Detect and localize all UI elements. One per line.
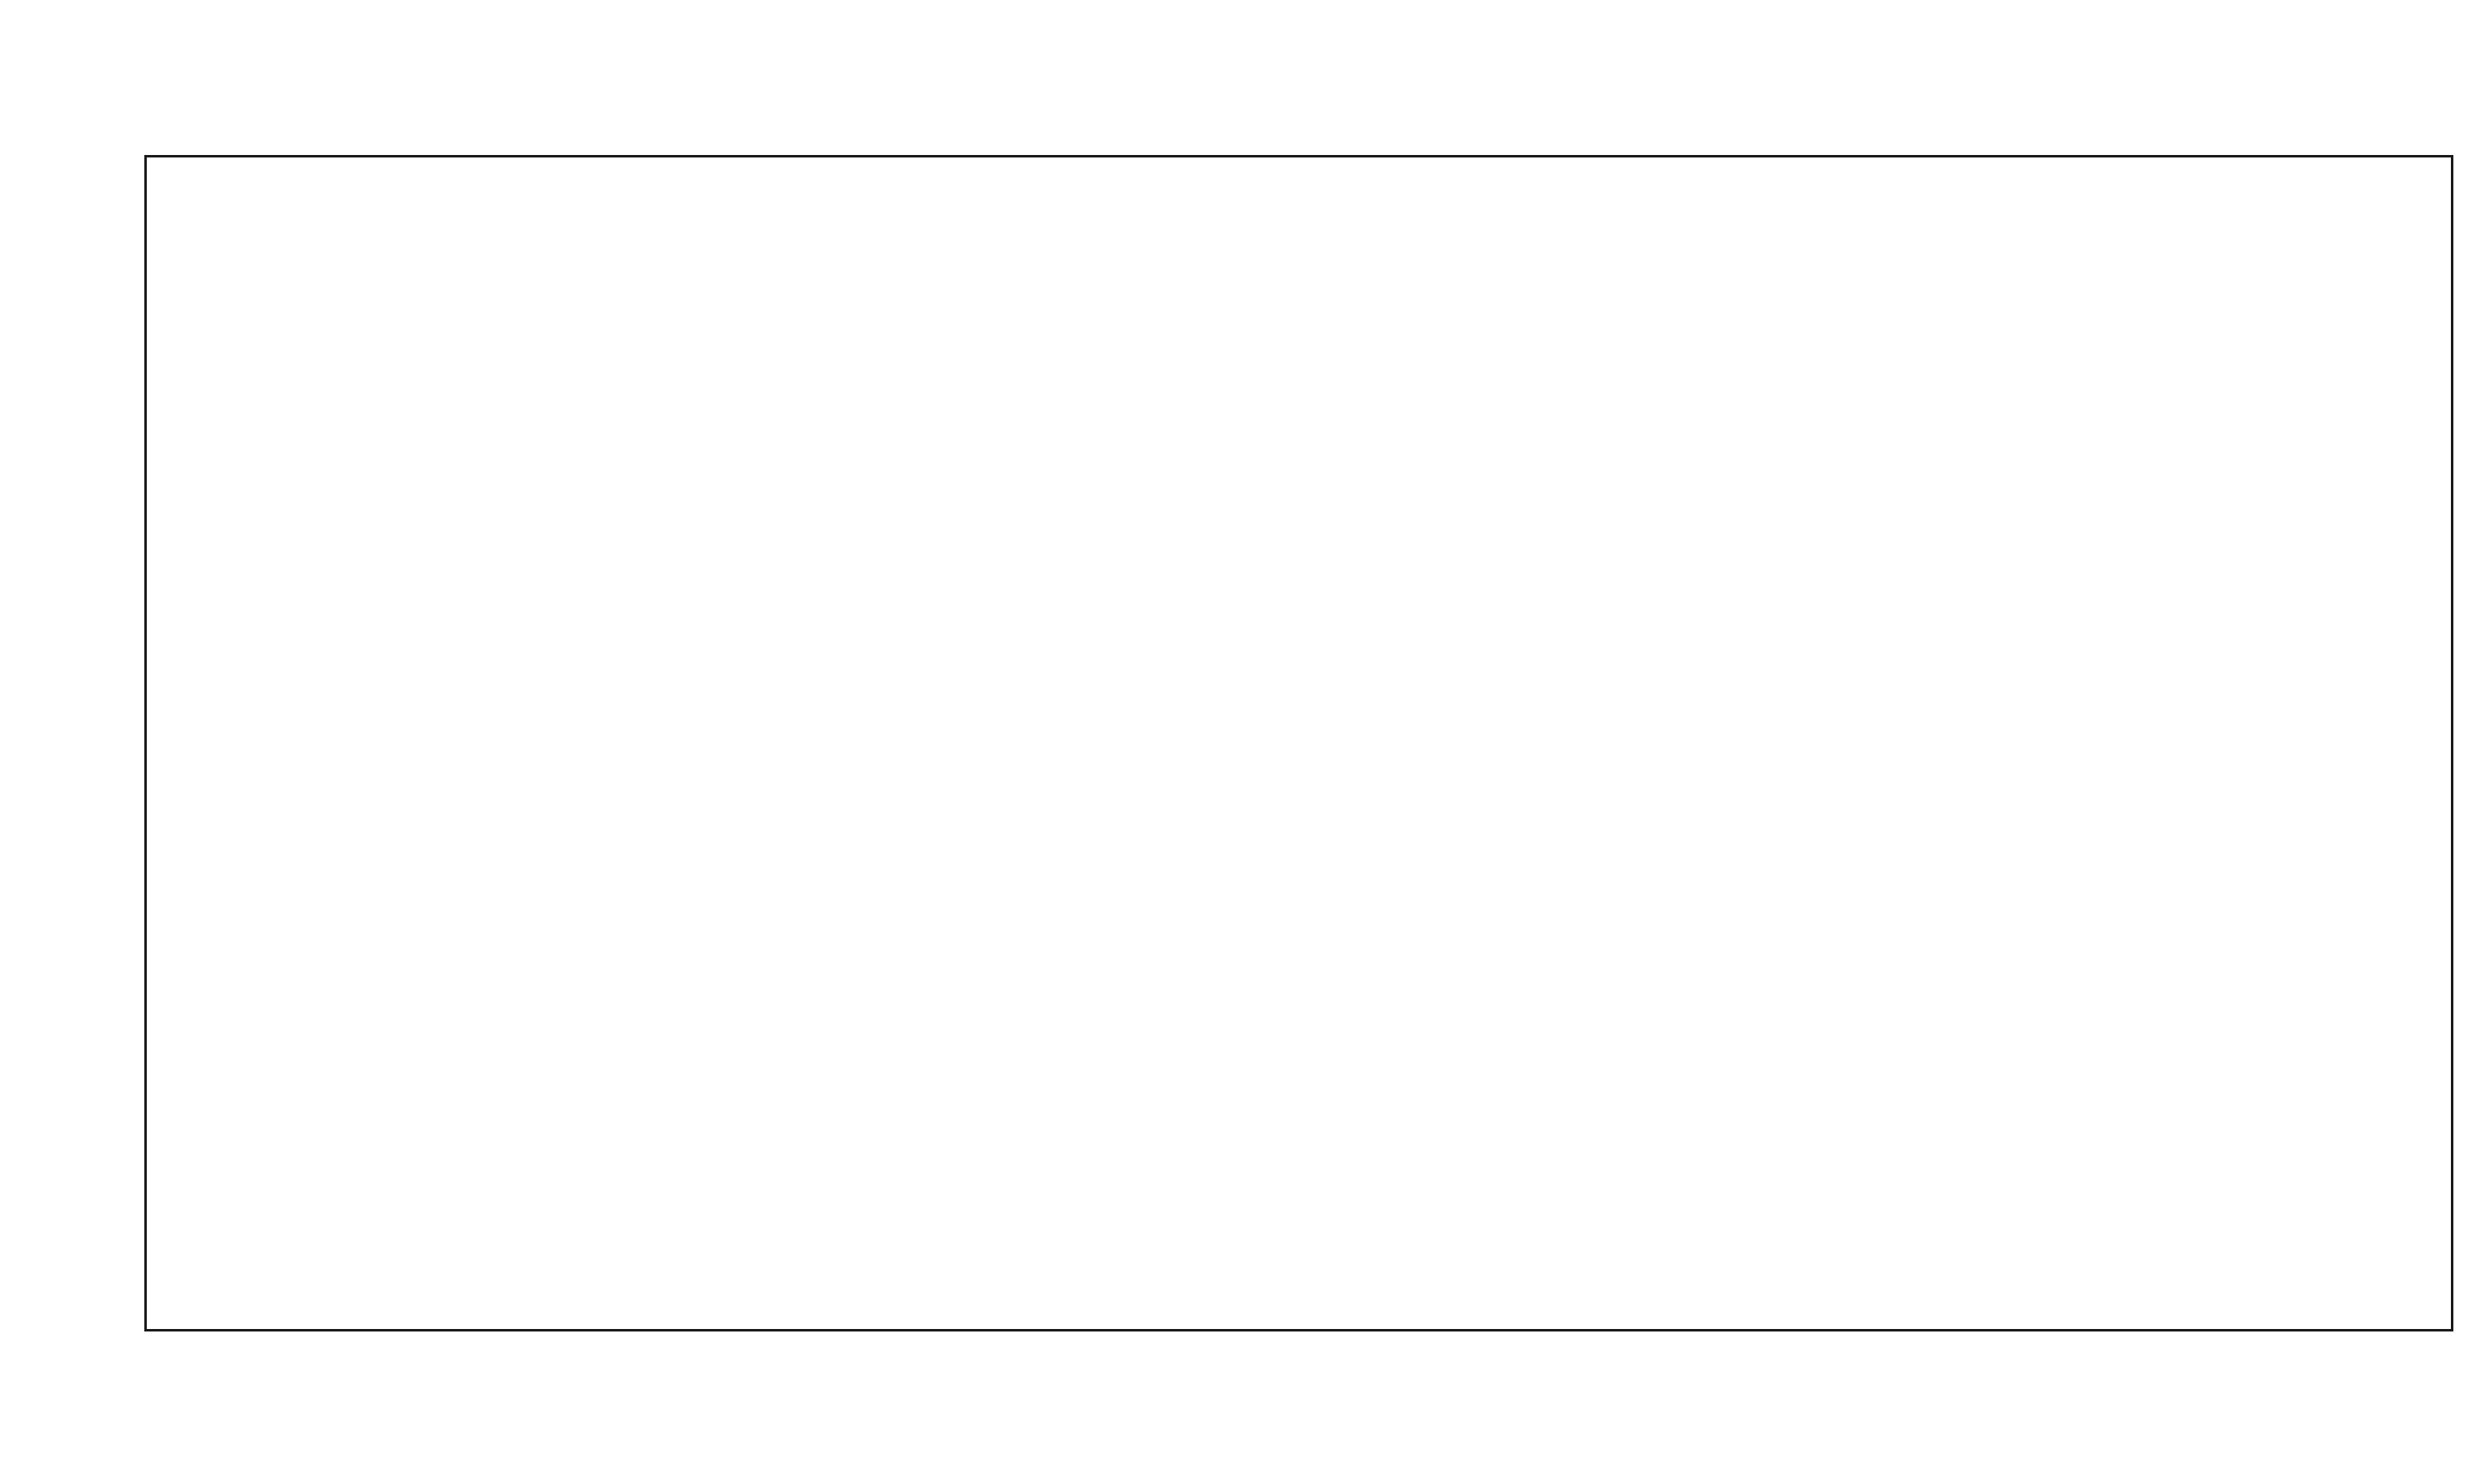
y-axis-title bbox=[8, 132, 59, 1344]
plot-panel bbox=[144, 155, 2453, 1331]
data-layer bbox=[147, 157, 2453, 1331]
chart-root bbox=[0, 0, 2474, 1484]
